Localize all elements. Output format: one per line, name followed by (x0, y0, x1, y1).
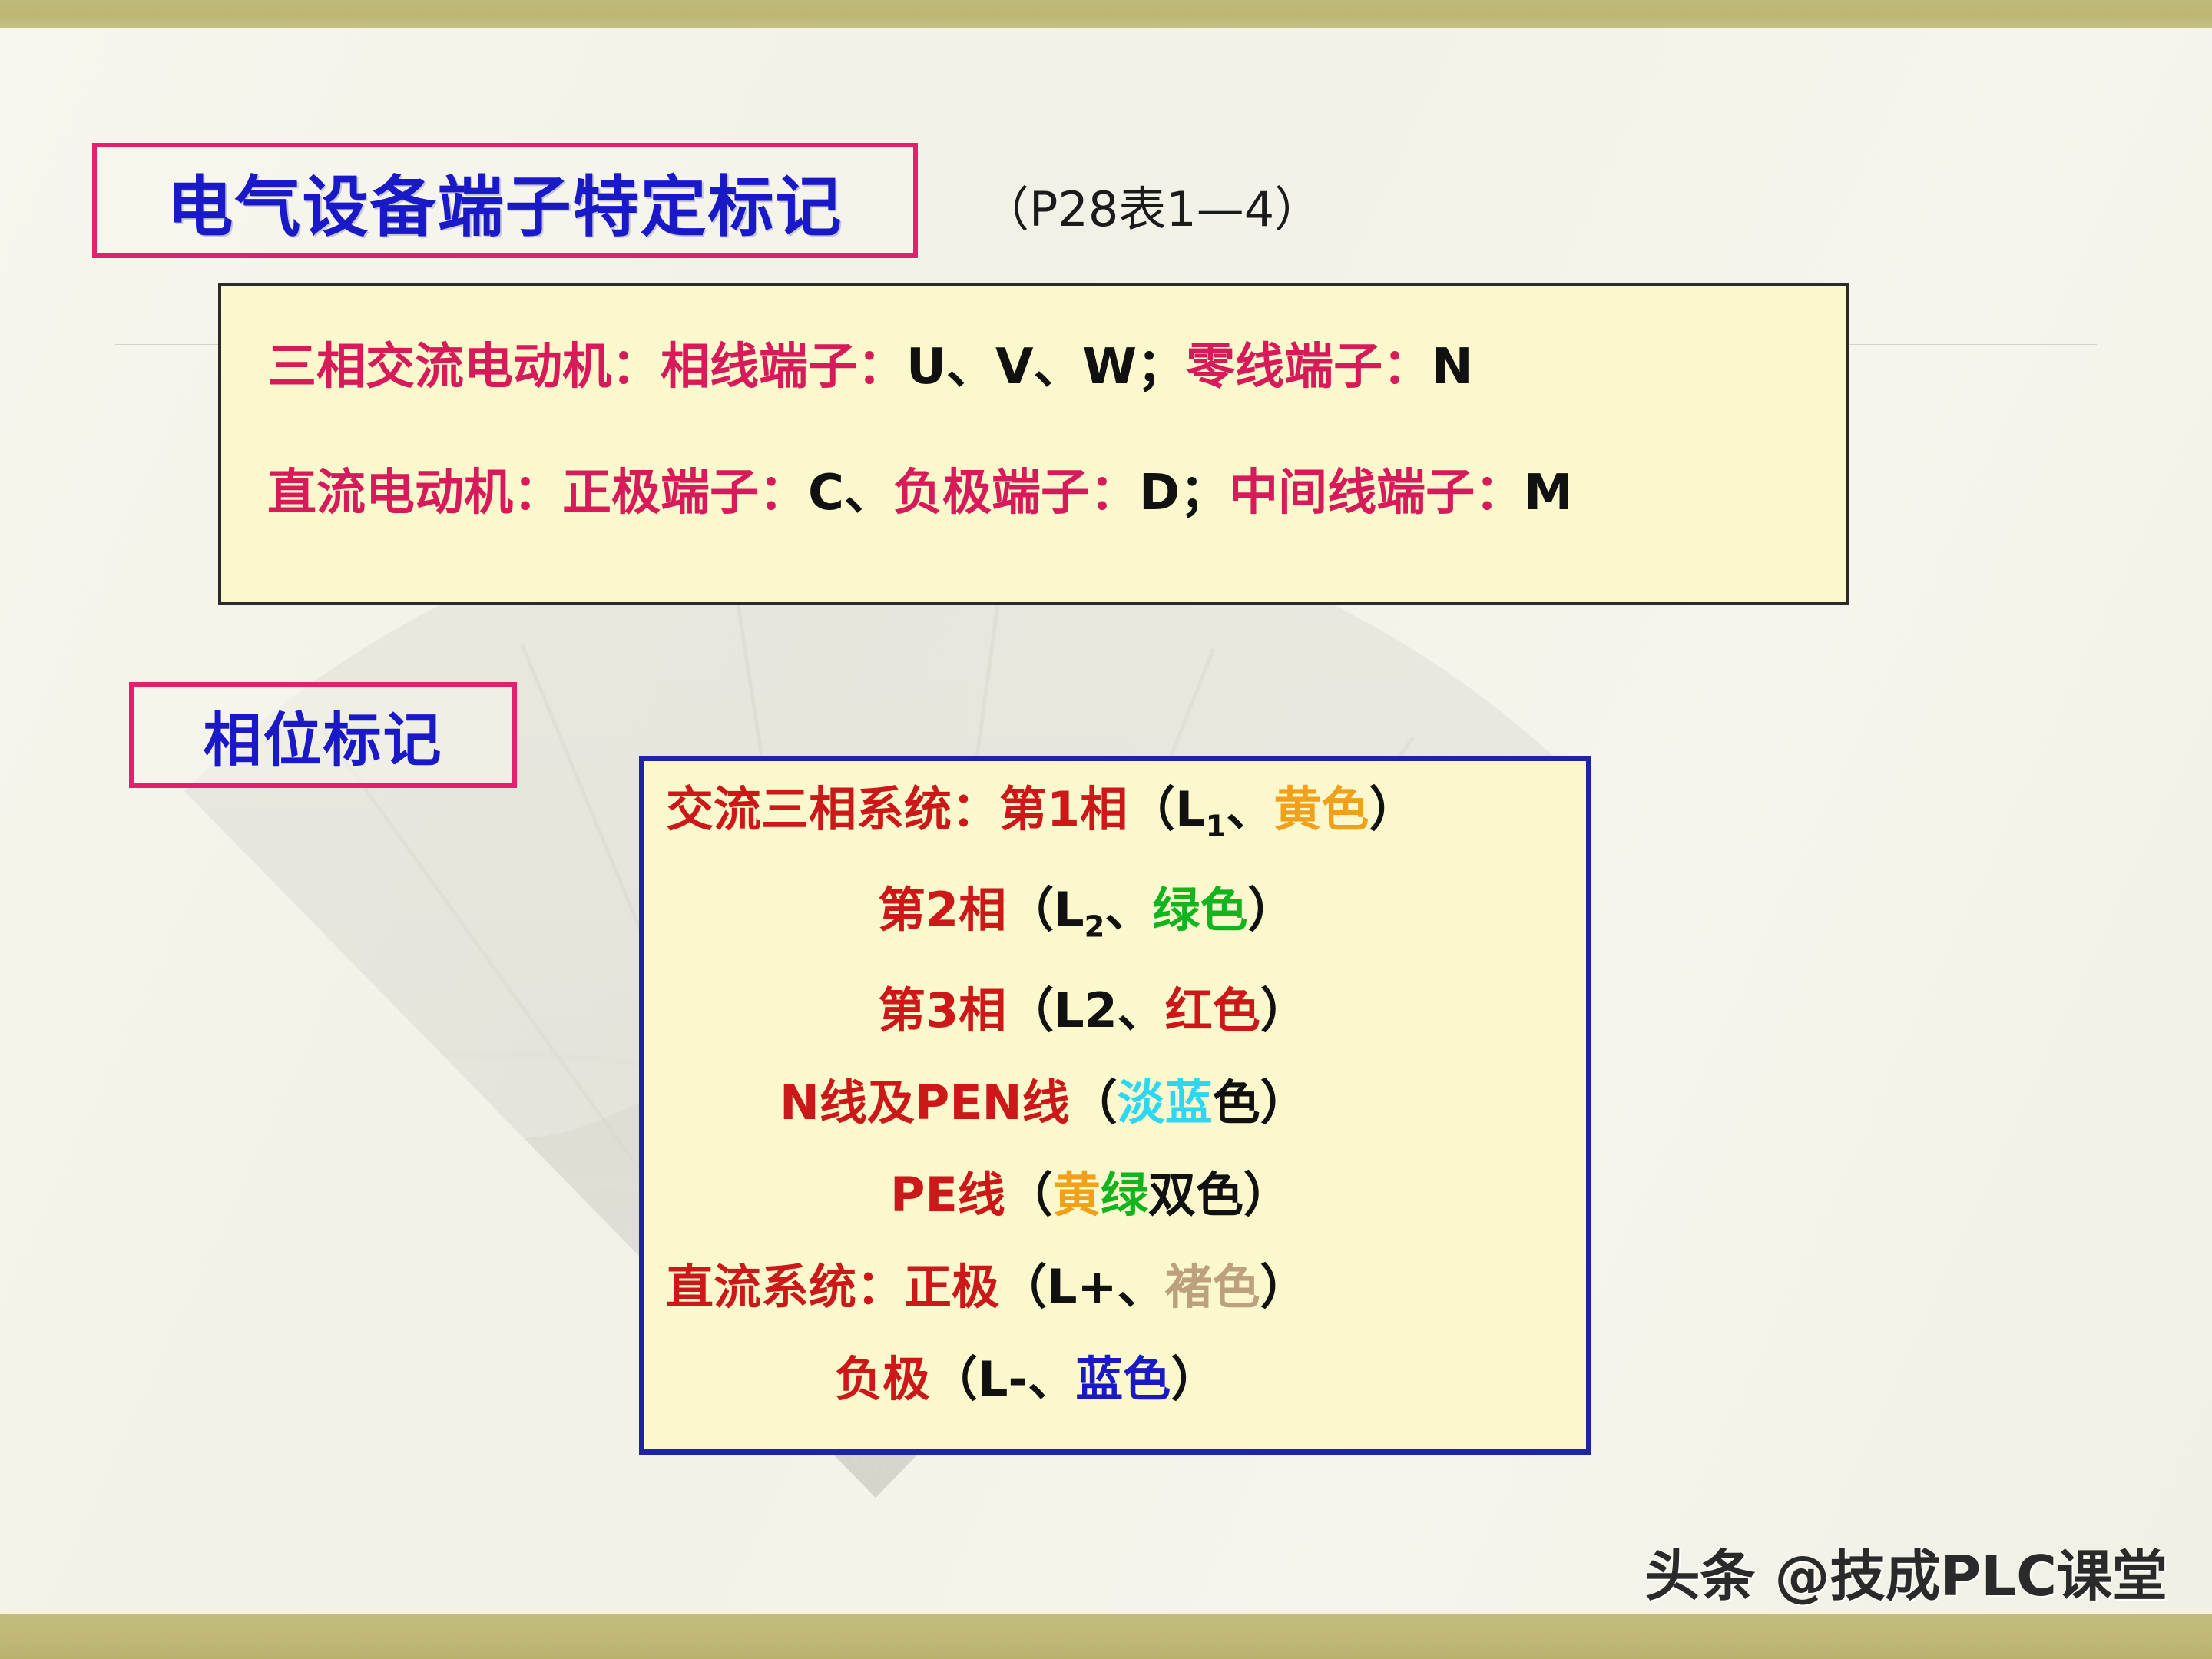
text-segment: 交流三相系统：第1相 (666, 781, 1128, 837)
text-segment: U、V、W； (906, 339, 1186, 396)
text-line: PE线（黄绿双色） (666, 1171, 1555, 1219)
text-segment: ） (1260, 982, 1308, 1038)
text-segment: （L+、 (999, 1259, 1164, 1315)
text-segment: （ (1005, 1167, 1053, 1223)
channel-watermark: 头条 @技成PLC课堂 (1644, 1531, 2167, 1611)
text-segment: （L (1006, 882, 1084, 938)
text-segment: M (1524, 465, 1573, 522)
text-segment: 第3相 (878, 982, 1006, 1038)
text-segment: 直流电动机：正极端子： (267, 465, 808, 522)
text-segment: 绿 (1101, 1167, 1148, 1223)
section-title: 相位标记 (204, 693, 443, 777)
text-line: 负极（L-、蓝色） (666, 1356, 1555, 1403)
text-line: 第2相（L2、绿色） (666, 886, 1555, 942)
text-segment: 黄 (1053, 1167, 1101, 1223)
text-segment: 蓝色 (1075, 1351, 1171, 1407)
page-title: 电气设备端子特定标记 (167, 153, 843, 249)
text-segment: 、 (1226, 781, 1273, 837)
text-segment: ） (1171, 1351, 1218, 1407)
text-segment: （ (1070, 1075, 1118, 1131)
text-segment: 负极 (835, 1351, 930, 1407)
text-segment: 黄色 (1273, 781, 1369, 837)
section-title-box: 相位标记 (129, 682, 517, 788)
text-segment: 褚色 (1164, 1259, 1260, 1315)
text-segment: 直流系统：正极 (666, 1259, 999, 1315)
text-line: 第3相（L2、红色） (666, 987, 1555, 1035)
text-segment: 绿色 (1152, 882, 1247, 938)
text-segment: 2 (1084, 909, 1105, 944)
text-segment: 、 (1104, 882, 1152, 938)
text-segment: N (1432, 339, 1473, 396)
bottom-border-band (0, 1614, 2212, 1659)
text-segment: N线及PEN线 (780, 1075, 1070, 1131)
text-segment: （L-、 (930, 1351, 1075, 1407)
text-line: 直流电动机：正极端子：C、负极端子：D；中间线端子：M (267, 469, 1846, 518)
phase-marks-panel: 交流三相系统：第1相（L1、黄色）第2相（L2、绿色）第3相（L2、红色）N线及… (639, 756, 1591, 1455)
text-segment: 负极端子： (893, 465, 1139, 522)
text-segment: 色） (1213, 1075, 1308, 1131)
slide-canvas: 电气设备端子特定标记 （P28表1—4） 三相交流电动机：相线端子：U、V、W；… (0, 0, 2212, 1659)
text-segment: （L2、 (1006, 982, 1165, 1038)
text-segment: （L (1128, 781, 1206, 837)
text-segment: 三相交流电动机：相线端子： (267, 339, 906, 396)
terminal-marks-panel: 三相交流电动机：相线端子：U、V、W；零线端子：N直流电动机：正极端子：C、负极… (218, 283, 1849, 605)
text-line: 直流系统：正极（L+、褚色） (666, 1263, 1555, 1311)
phase-marks-lines: 交流三相系统：第1相（L1、黄色）第2相（L2、绿色）第3相（L2、红色）N线及… (666, 786, 1555, 1403)
top-border-band (0, 0, 2212, 28)
text-segment: 双色） (1148, 1167, 1291, 1223)
text-segment: 零线端子： (1186, 339, 1432, 396)
title-reference-note: （P28表1—4） (982, 171, 1322, 240)
terminal-marks-lines: 三相交流电动机：相线端子：U、V、W；零线端子：N直流电动机：正极端子：C、负极… (267, 343, 1846, 518)
text-segment: PE线 (890, 1167, 1005, 1223)
text-segment: 红色 (1165, 982, 1260, 1038)
text-segment: ） (1369, 781, 1416, 837)
text-segment: C、 (808, 465, 893, 522)
text-line: N线及PEN线（淡蓝色） (666, 1079, 1555, 1127)
text-segment: 第2相 (878, 882, 1006, 938)
text-segment: ） (1260, 1259, 1308, 1315)
text-segment: 中间线端子： (1229, 465, 1524, 522)
text-segment: ） (1247, 882, 1295, 938)
text-segment: 1 (1206, 809, 1227, 843)
text-segment: D； (1139, 465, 1229, 522)
text-line: 三相交流电动机：相线端子：U、V、W；零线端子：N (267, 343, 1846, 392)
page-title-box: 电气设备端子特定标记 (92, 143, 918, 258)
text-segment: 淡蓝 (1118, 1075, 1213, 1131)
text-line: 交流三相系统：第1相（L1、黄色） (666, 786, 1555, 842)
